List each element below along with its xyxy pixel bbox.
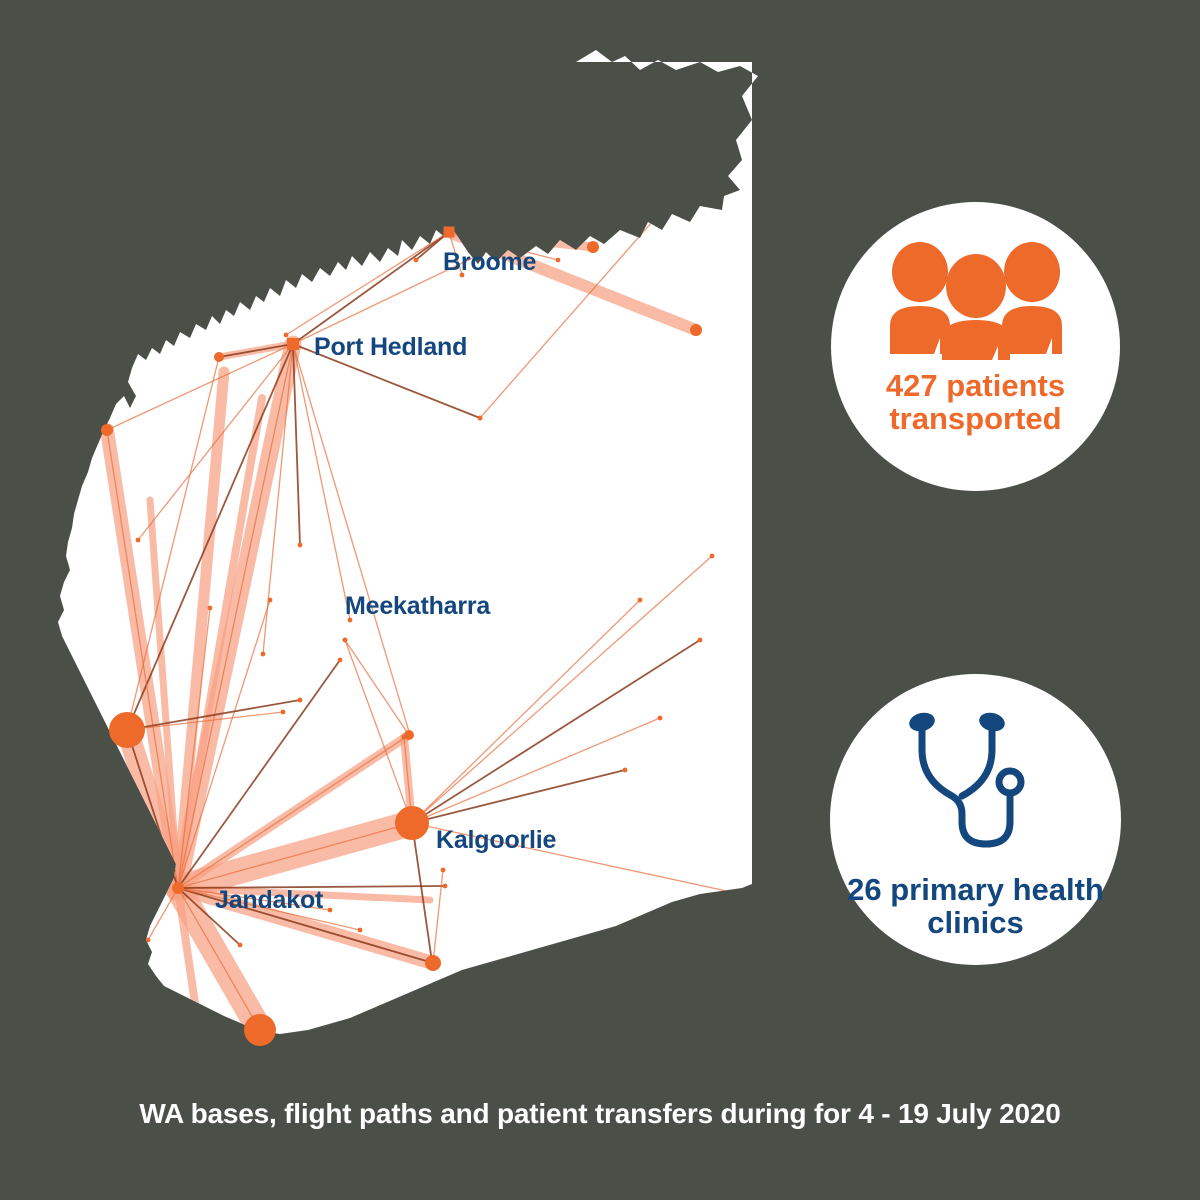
clinics-badge-line1: 26 primary health: [847, 874, 1104, 907]
city-label-meekatharra: Meekatharra: [345, 594, 490, 619]
stat-badge-patients-transported: 427 patients transported: [831, 202, 1120, 491]
flight-path: [449, 140, 724, 232]
wa-flight-map: [0, 0, 1200, 1200]
base-marker-geraldton[interactable]: [109, 712, 145, 748]
base-marker-esperance[interactable]: [425, 955, 441, 971]
infographic-root: BroomePort HedlandMeekatharraKalgoorlieJ…: [0, 0, 1200, 1200]
stat-badge-primary-health-clinics: 26 primary health clinics: [830, 674, 1121, 965]
caption-text: WA bases, flight paths and patient trans…: [0, 1098, 1200, 1130]
flight-path-endpoint: [208, 606, 213, 611]
people-group-icon: [886, 242, 1066, 360]
city-label-jandakot: Jandakot: [215, 888, 323, 913]
base-marker-carnarvon[interactable]: [101, 424, 113, 436]
patients-badge-text: 427 patients transported: [886, 370, 1065, 435]
base-marker-broome[interactable]: [444, 227, 455, 238]
flight-path-endpoint: [441, 868, 446, 873]
base-marker-port-hedland[interactable]: [287, 338, 299, 350]
flight-path-endpoint: [638, 598, 643, 603]
patients-badge-line1: 427 patients: [886, 370, 1065, 403]
flight-path: [449, 210, 508, 232]
flight-path-endpoint: [358, 928, 363, 933]
flight-path-endpoint: [658, 716, 663, 721]
base-marker-albany[interactable]: [244, 1014, 276, 1046]
flight-path-endpoint: [261, 652, 266, 657]
flight-path-endpoint: [238, 943, 243, 948]
flight-path-endpoint: [743, 893, 748, 898]
flight-path-endpoint: [268, 598, 273, 603]
clinics-badge-line2: clinics: [847, 907, 1104, 940]
flight-path-endpoint: [136, 538, 141, 543]
base-marker-meekatharra[interactable]: [404, 730, 414, 740]
base-marker-newman[interactable]: [214, 352, 224, 362]
city-label-port-hedland: Port Hedland: [314, 335, 467, 360]
base-marker-kununurra[interactable]: [690, 324, 702, 336]
flight-path-endpoint: [721, 136, 726, 141]
flight-path-endpoint: [623, 768, 628, 773]
flight-path: [449, 72, 640, 232]
stethoscope-icon: [900, 710, 1052, 858]
flight-path-endpoint: [328, 908, 333, 913]
base-marker-kalgoorlie[interactable]: [395, 806, 429, 840]
flight-path-endpoint: [146, 938, 151, 943]
flight-path-endpoint: [478, 416, 483, 421]
flight-path-endpoint: [558, 186, 563, 191]
flight-path-endpoint: [298, 543, 303, 548]
transfer-band: [449, 232, 593, 247]
flight-path-endpoint: [710, 554, 715, 559]
flight-path: [449, 138, 723, 232]
patients-badge-line2: transported: [886, 403, 1065, 436]
flight-path-endpoint: [343, 638, 348, 643]
flight-path-endpoint: [443, 884, 448, 889]
flight-path-endpoint: [281, 710, 286, 715]
flight-path-endpoint: [284, 333, 289, 338]
clinics-badge-text: 26 primary health clinics: [847, 874, 1104, 939]
flight-path-endpoint: [414, 258, 419, 263]
flight-path-endpoint: [698, 638, 703, 643]
flight-path: [449, 188, 560, 232]
flight-path-endpoint: [638, 70, 643, 75]
city-label-broome: Broome: [443, 250, 536, 275]
base-marker-derby[interactable]: [587, 241, 599, 253]
base-marker-jandakot[interactable]: [172, 882, 184, 894]
flight-path-endpoint: [556, 258, 561, 263]
flight-path-endpoint: [506, 208, 511, 213]
flight-path-endpoint: [298, 698, 303, 703]
flight-path-endpoint: [338, 658, 343, 663]
city-label-kalgoorlie: Kalgoorlie: [436, 828, 556, 853]
flight-path-endpoint: [722, 138, 727, 143]
